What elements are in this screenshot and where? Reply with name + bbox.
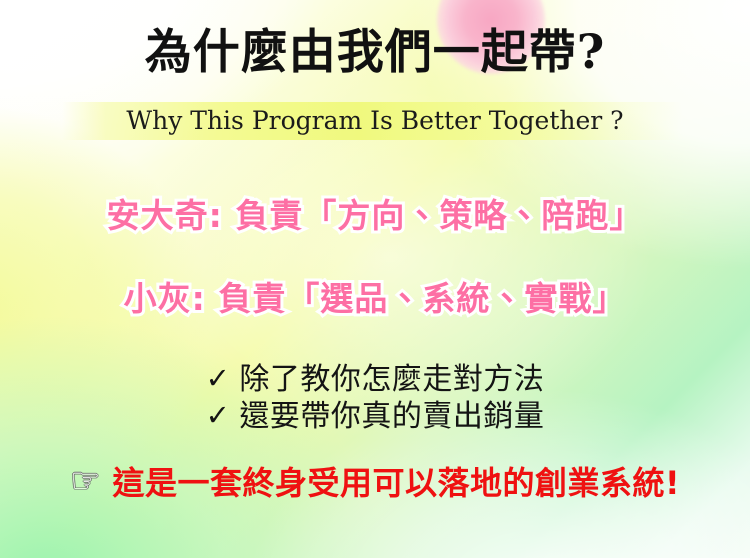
check-icon: ✓ [206,397,231,434]
slide-content: 為什麼由我們一起帶? Why This Program Is Better To… [0,0,750,558]
pointing-hand-icon: ☞ [70,461,100,501]
slide-canvas: 為什麼由我們一起帶? Why This Program Is Better To… [0,0,750,558]
role-line-xiaohui: 小灰: 負責「選品、系統、實戰」 [0,272,750,320]
list-item: ✓還要帶你真的賣出銷量 [0,398,750,435]
list-item: ✓除了教你怎麼走對方法 [0,361,750,398]
check-icon: ✓ [206,360,231,397]
list-item-label: 還要帶你真的賣出銷量 [239,399,544,434]
page-title: 為什麼由我們一起帶? [0,26,750,80]
callout-banner: ☞這是一套終身受用可以落地的創業系統! [0,463,750,503]
role-line-andaqi: 安大奇: 負責「方向、策略、陪跑」 [0,189,750,237]
page-subtitle: Why This Program Is Better Together ? [0,103,750,139]
callout-text: 這是一套終身受用可以落地的創業系統! [112,463,680,503]
list-item-label: 除了教你怎麼走對方法 [239,362,544,397]
bullet-list: ✓除了教你怎麼走對方法 ✓還要帶你真的賣出銷量 [0,361,750,435]
